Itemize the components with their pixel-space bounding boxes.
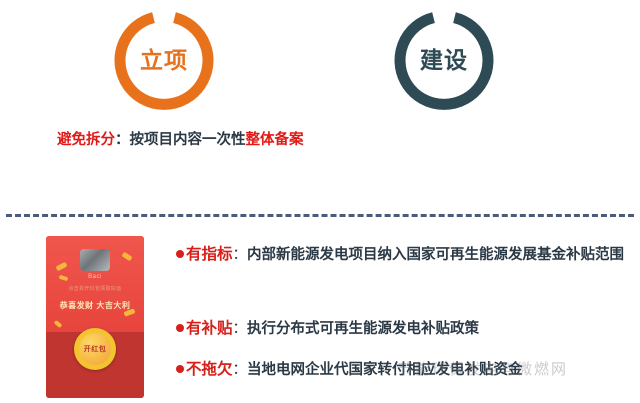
red-envelope-nickname: Baci xyxy=(46,274,144,280)
stage-ring-lixiang: 立项 xyxy=(112,8,216,112)
bullet-key: 有指标 xyxy=(186,246,233,263)
stage-ring-label: 建设 xyxy=(392,8,496,112)
bullet-value: 当地电网企业代国家转付相应发电补贴资金 xyxy=(247,362,523,378)
caption-highlight-1a: 避免拆分 xyxy=(57,132,115,148)
red-envelope-image: Baci 点击拆开红包领取好运 恭喜发财 大吉大利 开红包 xyxy=(46,236,144,398)
caption-highlight-1b: 整体备案 xyxy=(246,132,304,148)
bullet-item: 有补贴：执行分布式可再生能源发电补贴政策 xyxy=(176,318,636,340)
stage-ring-label: 立项 xyxy=(112,8,216,112)
red-envelope-subtitle: 点击拆开红包领取好运 xyxy=(46,285,144,292)
bullet-separator: ： xyxy=(233,362,248,378)
bullet-value: 内部新能源发电项目纳入国家可再生能源发展基金补贴范围 xyxy=(247,247,624,263)
bullet-item: 不拖欠：当地电网企业代国家转付相应发电补贴资金 xyxy=(176,359,636,381)
stage-caption-lixiang: 避免拆分：按项目内容一次性整体备案 xyxy=(57,128,312,153)
top-section: 立项 避免拆分：按项目内容一次性整体备案 建设 统一利益：单一投资经营主体负责投… xyxy=(0,0,640,215)
bullet-value: 执行分布式可再生能源发电补贴政策 xyxy=(247,321,479,337)
bullet-separator: ： xyxy=(233,321,248,337)
bullet-key: 有补贴 xyxy=(186,320,233,337)
coin-label: 开红包 xyxy=(84,344,107,354)
bullet-dot-icon xyxy=(176,324,184,332)
bullet-dot-icon xyxy=(176,250,184,258)
caption-normal-1a: ：按项目内容一次性 xyxy=(115,132,246,148)
coin-inner-disc: 开红包 xyxy=(79,333,111,365)
stage-ring-jianshe: 建设 xyxy=(392,8,496,112)
bullet-separator: ： xyxy=(233,247,248,263)
open-red-envelope-button: 开红包 xyxy=(74,328,116,370)
bottom-section: Baci 点击拆开红包领取好运 恭喜发财 大吉大利 开红包 有指标：内部新能源发… xyxy=(0,222,640,403)
bullet-dot-icon xyxy=(176,365,184,373)
dashed-divider xyxy=(6,214,634,217)
bullet-item: 有指标：内部新能源发电项目纳入国家可再生能源发展基金补贴范围 xyxy=(176,244,636,266)
avatar xyxy=(80,249,110,271)
bullet-key: 不拖欠 xyxy=(186,361,233,378)
